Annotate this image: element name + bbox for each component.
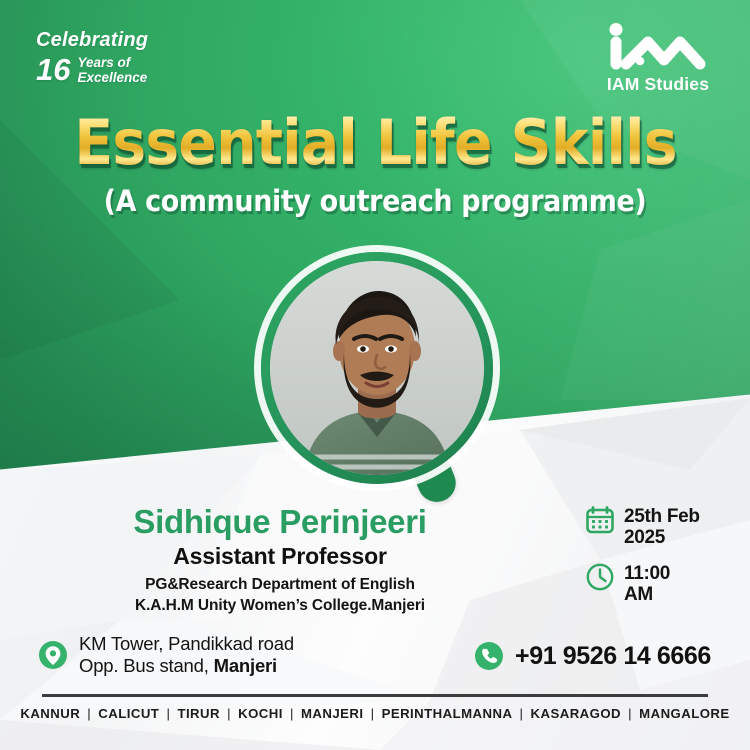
branch-separator: | (283, 706, 301, 721)
branch-separator: | (159, 706, 177, 721)
iam-logo-icon (596, 22, 720, 70)
branch-item: KOCHI (238, 706, 283, 721)
branch-item: PERINTHALMANNA (382, 706, 513, 721)
address-line-2-prefix: Opp. Bus stand, (79, 655, 214, 676)
clock-icon (585, 562, 615, 592)
branch-separator: | (512, 706, 530, 721)
contact-phone[interactable]: +91 9526 14 6666 (474, 641, 711, 671)
branch-item: MANGALORE (639, 706, 730, 721)
event-time-line2: AM (624, 584, 670, 605)
event-time-line1: 11:00 (624, 563, 670, 584)
branch-item: TIRUR (177, 706, 220, 721)
page-title: Essential Life Skills (74, 112, 676, 174)
branch-separator: | (621, 706, 639, 721)
address-line-1: KM Tower, Pandikkad road (79, 633, 294, 655)
event-date-line1: 25th Feb (624, 506, 700, 527)
calendar-icon (585, 505, 615, 535)
celebrating-word: Celebrating (36, 30, 148, 50)
speaker-name: Sidhique Perinjeeri (0, 505, 560, 539)
event-poster: Celebrating 16 Years of Excellence IAM S… (0, 0, 750, 750)
branch-separator: | (220, 706, 238, 721)
avatar (270, 261, 484, 475)
speaker-details: Sidhique Perinjeeri Assistant Professor … (0, 505, 560, 615)
years-label-line1: Years of (77, 55, 147, 70)
speaker-department: PG&Research Department of English (0, 576, 560, 594)
years-label-line2: Excellence (77, 70, 147, 85)
title-block: Essential Life Skills (A community outre… (0, 112, 750, 218)
celebrating-badge: Celebrating 16 Years of Excellence (36, 30, 148, 85)
branch-item: KANNUR (20, 706, 80, 721)
portrait-block (252, 243, 502, 493)
phone-icon (474, 641, 504, 671)
branch-item: KASARAGOD (531, 706, 622, 721)
map-pin-icon (38, 640, 68, 670)
address-city: Manjeri (214, 655, 277, 676)
branch-list: KANNUR | CALICUT | TIRUR | KOCHI | MANJE… (0, 706, 750, 721)
years-number: 16 (36, 56, 70, 84)
event-time-row: 11:00 AM (585, 562, 745, 606)
page-subtitle: (A community outreach programme) (26, 184, 724, 218)
event-meta: 25th Feb 2025 11:00 AM (585, 505, 745, 618)
speaker-college: K.A.H.M Unity Women’s College.Manjeri (0, 597, 560, 615)
footer-divider (42, 694, 708, 697)
venue-address: KM Tower, Pandikkad road Opp. Bus stand,… (38, 633, 294, 677)
brand-logo: IAM Studies (596, 22, 720, 95)
event-date-line2: 2025 (624, 527, 700, 548)
logo-text: IAM Studies (596, 74, 720, 95)
branch-item: CALICUT (98, 706, 159, 721)
branch-item: MANJERI (301, 706, 364, 721)
phone-number: +91 9526 14 6666 (515, 642, 711, 671)
branch-separator: | (363, 706, 381, 721)
branch-separator: | (80, 706, 98, 721)
speaker-role: Assistant Professor (0, 543, 560, 570)
event-date-row: 25th Feb 2025 (585, 505, 745, 549)
address-line-2: Opp. Bus stand, Manjeri (79, 655, 294, 677)
